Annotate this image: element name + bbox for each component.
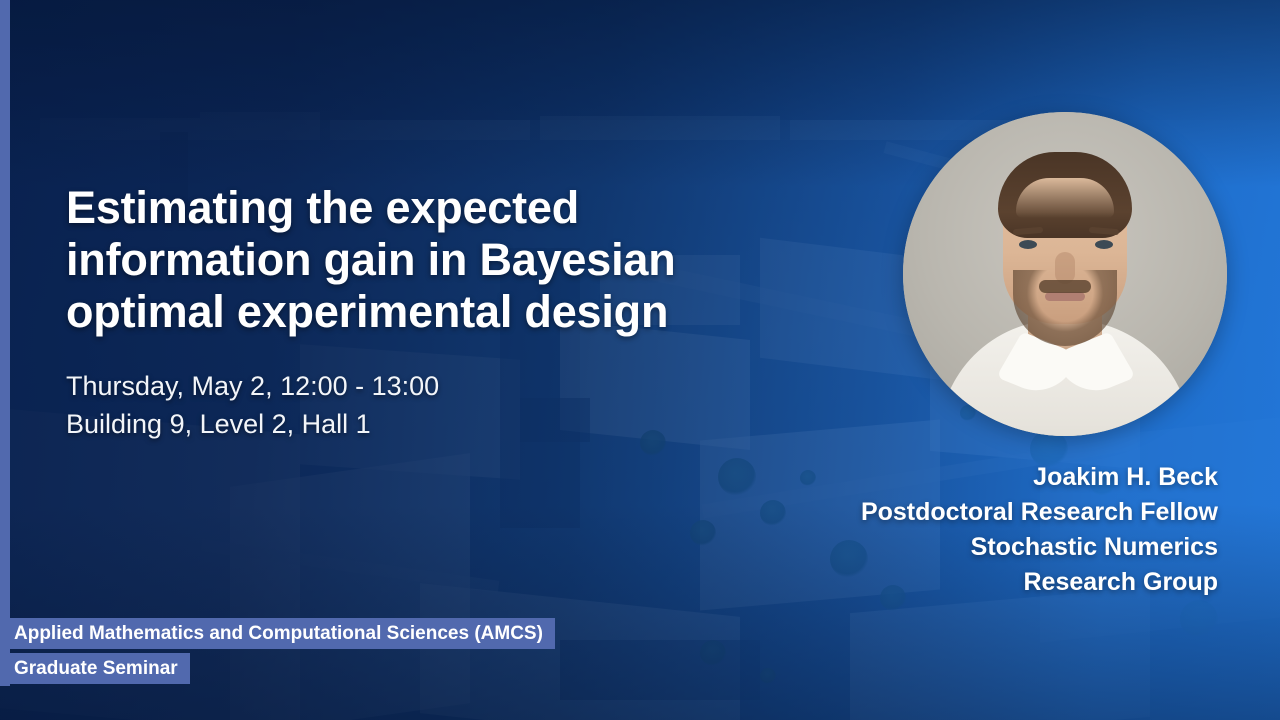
left-accent-stripe bbox=[0, 0, 10, 686]
speaker-group-line-2: Research Group bbox=[861, 565, 1218, 600]
seminar-slide: Estimating the expected information gain… bbox=[0, 0, 1280, 720]
schedule-datetime: Thursday, May 2, 12:00 - 13:00 bbox=[66, 367, 439, 405]
photo-eye-left bbox=[1019, 240, 1037, 249]
photo-mouth bbox=[1045, 292, 1085, 301]
speaker-title: Postdoctoral Research Fellow bbox=[861, 495, 1218, 530]
page-title: Estimating the expected information gain… bbox=[66, 182, 826, 338]
title-line-3: optimal experimental design bbox=[66, 286, 826, 338]
title-line-2: information gain in Bayesian bbox=[66, 234, 826, 286]
series-banner: Graduate Seminar bbox=[0, 653, 190, 684]
title-line-1: Estimating the expected bbox=[66, 182, 826, 234]
photo-hair bbox=[998, 152, 1132, 238]
photo-moustache bbox=[1039, 280, 1091, 293]
speaker-name: Joakim H. Beck bbox=[861, 460, 1218, 495]
department-banner: Applied Mathematics and Computational Sc… bbox=[0, 618, 555, 649]
department-banner-label: Applied Mathematics and Computational Sc… bbox=[14, 623, 543, 645]
schedule-block: Thursday, May 2, 12:00 - 13:00 Building … bbox=[66, 367, 439, 443]
speaker-photo bbox=[903, 112, 1227, 436]
speaker-group-line-1: Stochastic Numerics bbox=[861, 530, 1218, 565]
series-banner-label: Graduate Seminar bbox=[14, 658, 178, 680]
speaker-details: Joakim H. Beck Postdoctoral Research Fel… bbox=[861, 460, 1218, 600]
schedule-venue: Building 9, Level 2, Hall 1 bbox=[66, 405, 439, 443]
photo-eye-right bbox=[1095, 240, 1113, 249]
